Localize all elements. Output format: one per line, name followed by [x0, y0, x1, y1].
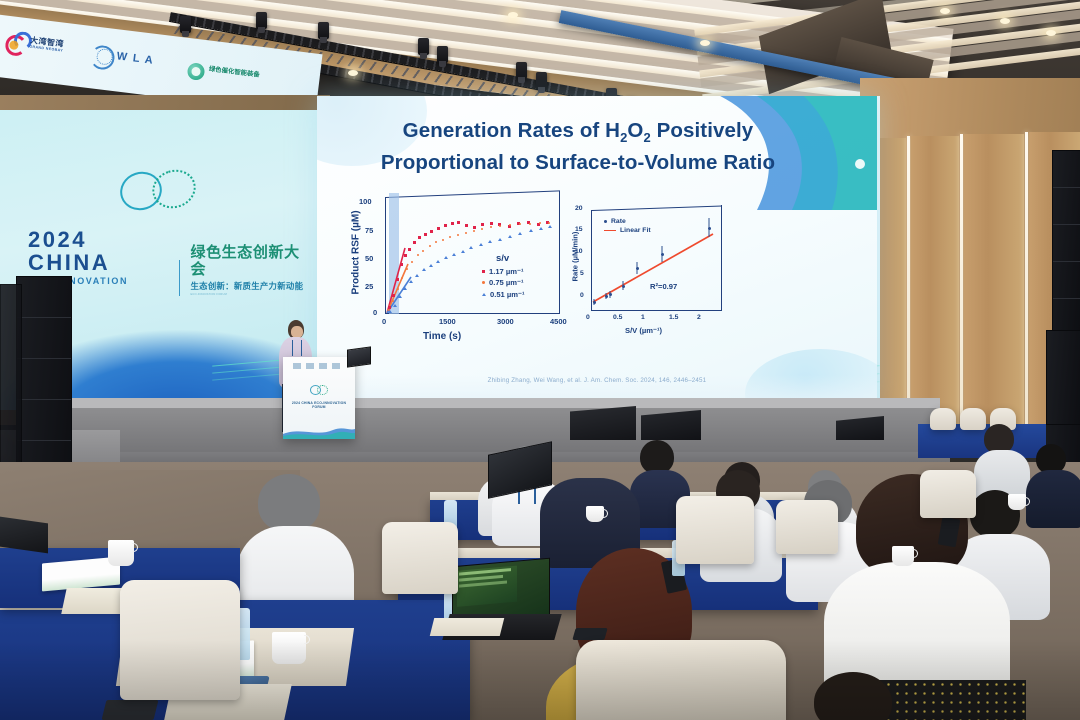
grand-neobay-logo: 大湾智湾 GRAND NEOBAY [4, 30, 73, 64]
podium-laptop [347, 346, 371, 367]
podium-infinity-mark [310, 385, 328, 394]
chart1-xtick-1500: 1500 [439, 317, 456, 326]
teacup-left[interactable] [108, 540, 134, 566]
stage-light-5 [437, 46, 448, 63]
chart2-legend-fit: Linear Fit [620, 227, 651, 234]
chart2-legend: Rate Linear Fit [604, 218, 651, 234]
left-year-title: 2024 CHINA [28, 228, 169, 274]
teacup-right[interactable] [892, 546, 914, 566]
subwoofer-stack-right [1046, 330, 1080, 428]
wla-logo-text: W L A [116, 50, 155, 66]
chart1-xtick-3000: 3000 [497, 317, 514, 326]
chart2-ytick-5: 5 [580, 270, 584, 277]
chart1-ytick-0: 0 [373, 308, 377, 317]
chart2-ytick-15: 15 [575, 226, 583, 233]
chart1-legend-3: 0.51 µm⁻¹ [490, 290, 525, 299]
teacup-back[interactable] [1008, 494, 1026, 510]
speaker-lanyard [292, 340, 302, 356]
line-array-speaker-right [1052, 150, 1080, 332]
podium-branding: 2024 CHINA ECO-INNOVATION FORUM [289, 401, 349, 409]
foreground-shadow [0, 640, 1080, 720]
slide-title-sub2: 2 [643, 130, 650, 145]
back-chair-2 [960, 408, 986, 430]
chart1-ytick-50: 50 [365, 254, 373, 263]
slide-title: Generation Rates of H2O2 Positively Prop… [363, 118, 793, 175]
green-tech-logo: 绿色催化智能装备 [186, 62, 268, 96]
chart1-ylabel: Product RSF (µM) [351, 198, 362, 308]
ceiling-downlight-4 [508, 12, 518, 18]
chart2-xtick-20: 2 [697, 314, 701, 321]
chart2-xtick-10: 1 [641, 314, 645, 321]
wla-logo: W L A [89, 44, 172, 80]
chair-right[interactable] [776, 500, 838, 554]
stage-light-4 [418, 38, 429, 55]
stage-monitor-1 [570, 406, 636, 440]
left-cn-title: 绿色生态创新大会 [190, 244, 308, 278]
chair-mid-left[interactable] [382, 522, 458, 594]
ceiling-downlight-6 [940, 8, 950, 14]
stage-light-7 [536, 72, 547, 89]
chair-mid-right[interactable] [676, 496, 754, 564]
ceiling-downlight-5 [700, 40, 710, 46]
conference-hall-photo: 大湾智湾 GRAND NEOBAY W L A 绿色催化智能装备 2024 CH [0, 0, 1080, 720]
notepad-mid[interactable] [430, 618, 504, 636]
slide-title-part2: Positively [651, 119, 754, 142]
chart1-xlabel: Time (s) [423, 331, 461, 342]
chart1-legend-1: 1.17 µm⁻¹ [489, 267, 524, 276]
smartphone-on-table-3[interactable] [572, 628, 607, 640]
slide-title-part1: Generation Rates of H [403, 119, 620, 142]
chart1-legend-title: s/v [496, 253, 562, 264]
chart2-r2-annotation: R²=0.97 [650, 282, 677, 291]
chart2-ytick-0: 0 [580, 292, 584, 299]
stage-light-6 [516, 62, 527, 79]
teacup-mid2[interactable] [586, 506, 604, 522]
ceiling-downlight-7 [1000, 18, 1010, 24]
chart-rate-vs-sv: Rate (µM/min) [557, 204, 742, 354]
slide-title-line2: Proportional to Surface-to-Volume Ratio [381, 151, 775, 174]
name-card-left-text [42, 565, 120, 572]
chart2-ytick-10: 10 [575, 248, 583, 255]
chair-far-right[interactable] [920, 470, 976, 518]
chart1-ytick-100: 100 [359, 197, 372, 206]
green-tech-cn: 绿色催化智能装备 [208, 66, 266, 80]
chart2-legend-rate: Rate [611, 218, 626, 225]
chart1-legend: s/v 1.17 µm⁻¹ 0.75 µm⁻¹ 0.51 µm⁻¹ [482, 253, 562, 299]
stage-light-2 [256, 12, 267, 29]
chart2-xtick-15: 1.5 [669, 314, 678, 321]
ceiling-downlight-8 [1046, 30, 1056, 36]
chart2-ytick-20: 20 [575, 205, 583, 212]
podium-top-logos [293, 363, 345, 369]
presentation-screen: Generation Rates of H2O2 Positively Prop… [317, 96, 877, 409]
chart1-xtick-0: 0 [382, 317, 386, 326]
podium: 2024 CHINA ECO-INNOVATION FORUM [283, 357, 355, 439]
chart2-ylabel: Rate (µM/min) [571, 207, 580, 307]
stage-light-3 [318, 22, 329, 39]
chart-product-rsf-vs-time: Product RSF (µM) [345, 191, 575, 356]
back-chair-1 [930, 408, 956, 430]
podium-wave-decor [283, 423, 355, 439]
chart1-plot-area: s/v 1.17 µm⁻¹ 0.75 µm⁻¹ 0.51 µm⁻¹ [385, 197, 560, 314]
chart2-xtick-00: 0 [586, 314, 590, 321]
chart2-xtick-05: 0.5 [613, 314, 622, 321]
stage-light-1 [180, 16, 191, 33]
chart1-ytick-75: 75 [365, 226, 373, 235]
chart2-xlabel: S/V (µm⁻¹) [625, 326, 662, 335]
infinity-decoration-left [120, 168, 206, 210]
slide-title-mid: O [627, 119, 643, 142]
ceiling-downlight-3 [348, 70, 358, 76]
chart1-legend-2: 0.75 µm⁻¹ [489, 278, 524, 287]
chart2-plot-area: Rate Linear Fit R²=0.97 [591, 210, 722, 311]
chart1-ytick-25: 25 [365, 282, 373, 291]
